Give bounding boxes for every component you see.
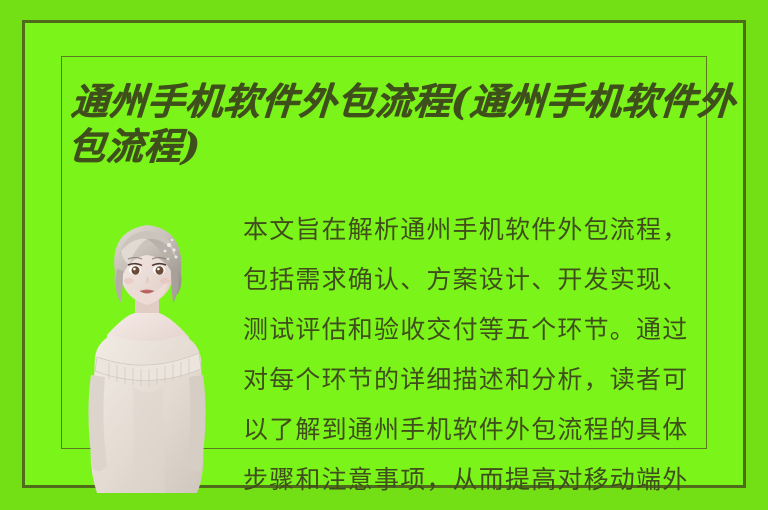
body-text-line: 测试评估和验收交付等五个环节。通过 — [243, 305, 757, 355]
page-title-line-2: 包流程) — [67, 124, 203, 168]
body-text-line: 包括需求确认、方案设计、开发实现、 — [243, 255, 757, 305]
body-text-line: 步骤和注意事项，从而提高对移动端外 — [243, 455, 757, 505]
body-text: 本文旨在解析通州手机软件外包流程， 包括需求确认、方案设计、开发实现、 测试评估… — [243, 205, 757, 505]
page-title-line-1: 通州手机软件外包流程(通州手机软件外 — [70, 79, 738, 123]
page-title: 通州手机软件外包流程(通州手机软件外包流程) — [67, 79, 768, 169]
body-text-line: 以了解到通州手机软件外包流程的具体 — [243, 405, 757, 455]
body-text-line: 本文旨在解析通州手机软件外包流程， — [243, 205, 757, 255]
body-text-line: 对每个环节的详细描述和分析，读者可 — [243, 355, 757, 405]
content-stage: 通州手机软件外包流程(通州手机软件外包流程) — [25, 23, 743, 485]
illustration-svg — [77, 207, 217, 493]
poster-canvas: 通州手机软件外包流程(通州手机软件外包流程) — [0, 0, 768, 510]
outer-border-frame: 通州手机软件外包流程(通州手机软件外包流程) — [22, 20, 746, 488]
anime-girl-illustration — [77, 207, 217, 493]
